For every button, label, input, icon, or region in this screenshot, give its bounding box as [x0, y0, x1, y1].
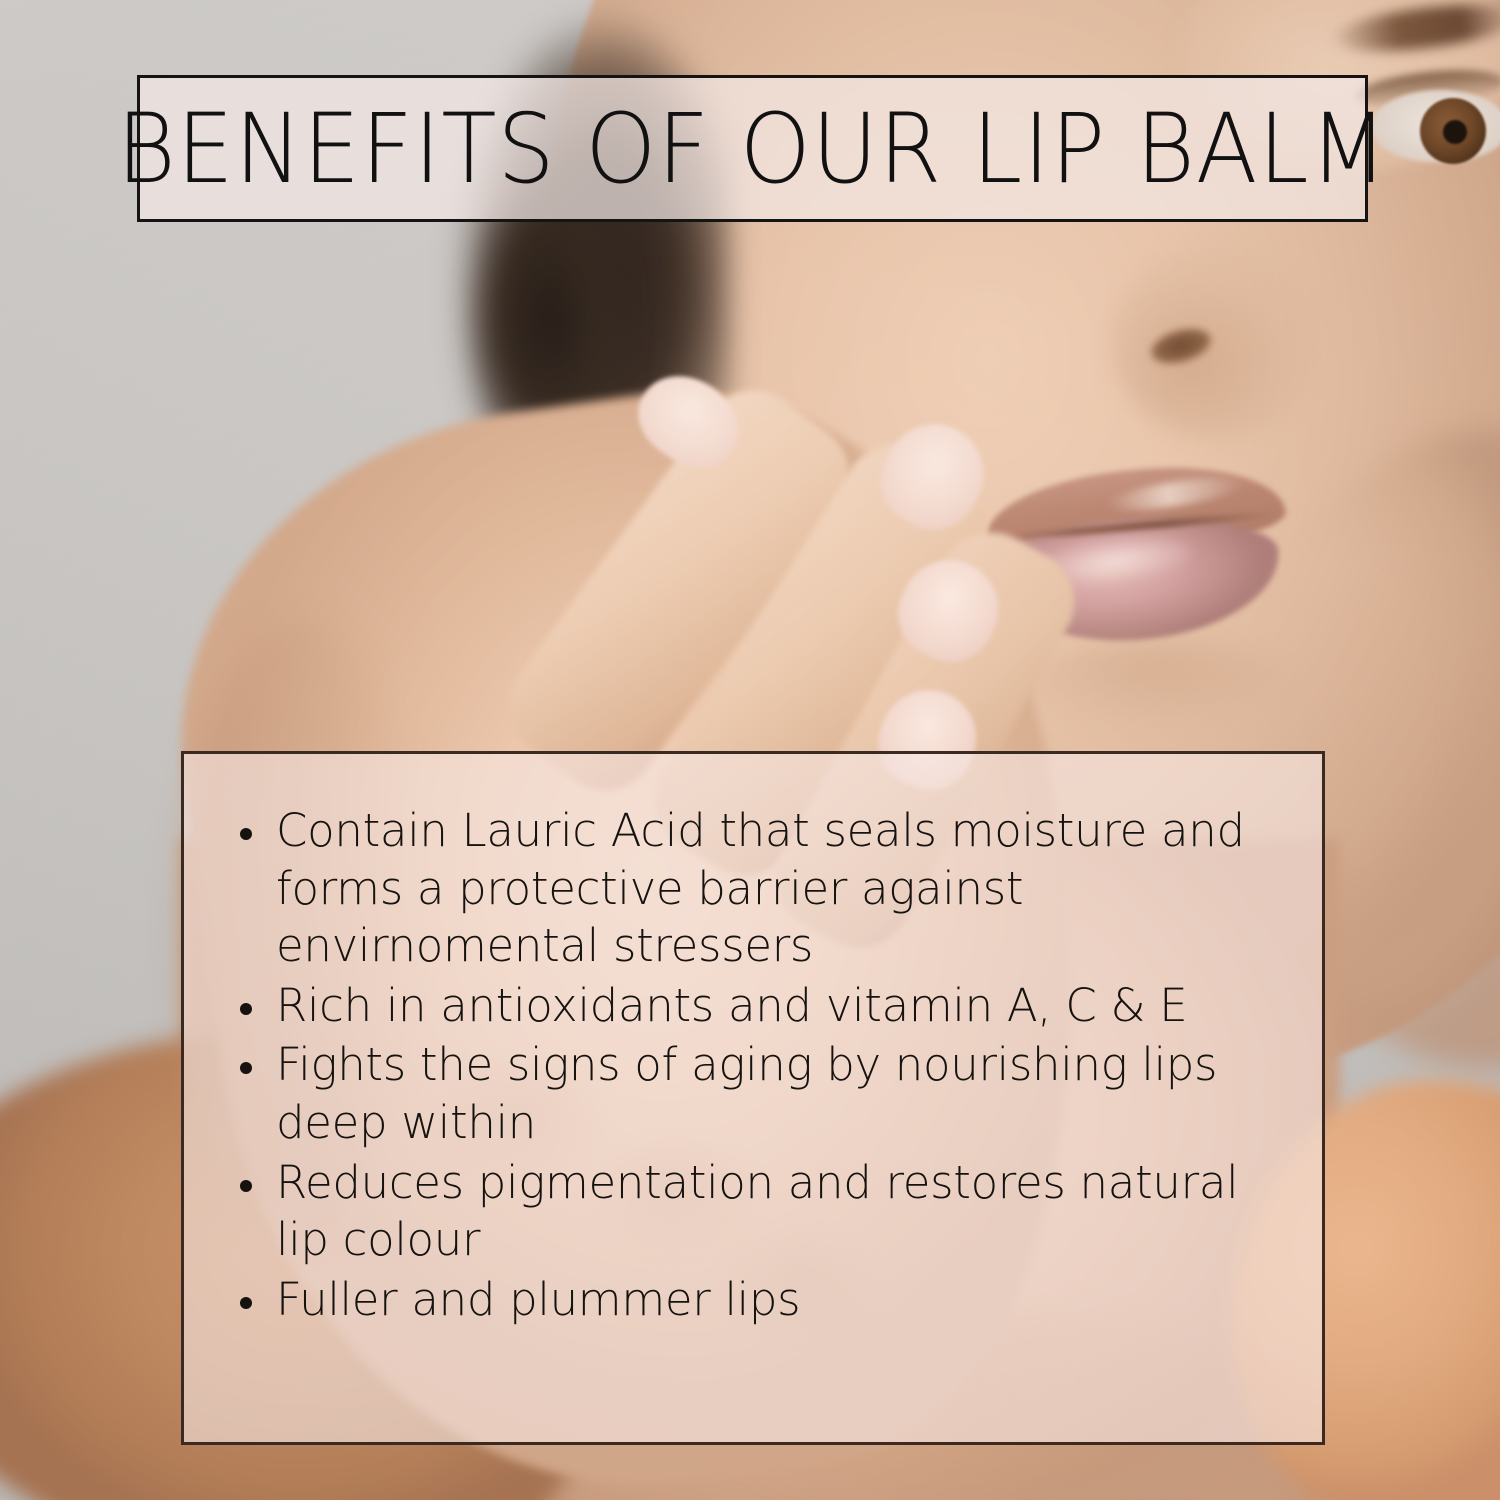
marketing-graphic: BENEFITS OF OUR LIP BALM Contain Lauric … [0, 0, 1500, 1500]
list-item: Contain Lauric Acid that seals moisture … [232, 802, 1288, 975]
pupil [1443, 120, 1467, 144]
list-item: Reduces pigmentation and restores natura… [232, 1154, 1288, 1269]
list-item: Fights the signs of aging by nourishing … [232, 1036, 1288, 1151]
list-item: Fuller and plummer lips [232, 1271, 1288, 1329]
title-panel: BENEFITS OF OUR LIP BALM [137, 75, 1368, 222]
benefits-panel: Contain Lauric Acid that seals moisture … [181, 751, 1325, 1445]
page-title: BENEFITS OF OUR LIP BALM [117, 101, 1389, 197]
benefits-list: Contain Lauric Acid that seals moisture … [232, 802, 1288, 1328]
list-item: Rich in antioxidants and vitamin A, C & … [232, 977, 1288, 1035]
